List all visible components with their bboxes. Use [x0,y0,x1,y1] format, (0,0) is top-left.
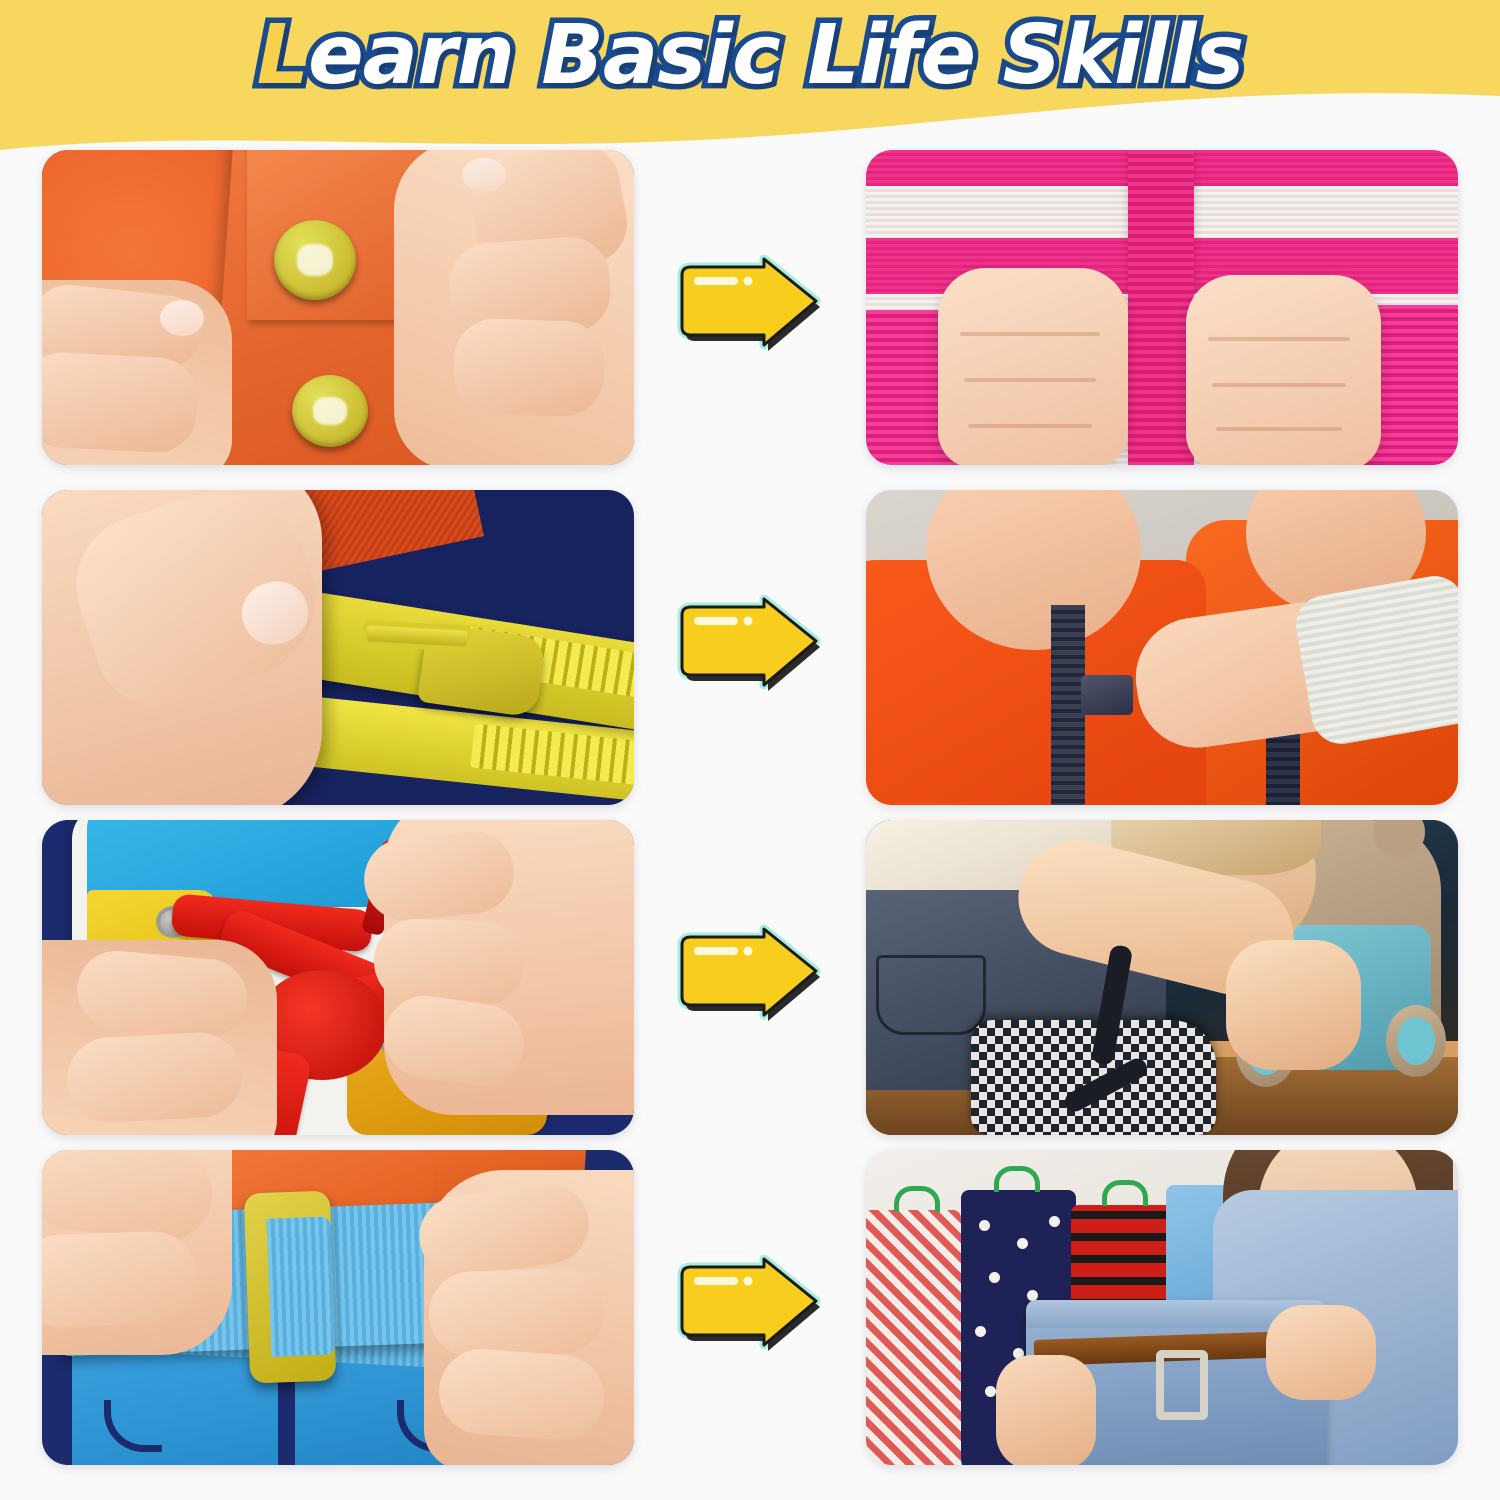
arrow-buckling [672,1255,822,1359]
vest-zipper-slider [1081,675,1133,715]
title-rest: earn Basic Life Skills [308,8,1243,103]
belt-buckle [1156,1350,1208,1420]
child-fist-right [1186,275,1381,465]
child-hand-right [424,1170,634,1465]
child-hand-left [42,1150,232,1355]
skill-row-shoe-lacing [0,820,1500,1135]
scene-busy-board-button [42,150,634,465]
page-title: Learn Basic Life Skills [0,10,1500,102]
jeans-pocket [876,955,986,1035]
panel-after-buttoning[interactable] [866,150,1458,465]
child-hand [1226,940,1361,1070]
skills-grid [0,150,1500,1490]
scene-busy-board-lacing [42,820,634,1135]
finger-5 [42,350,199,454]
right-arrow-icon [672,1255,822,1359]
arrow-zipping [672,595,822,699]
fingernail [462,158,506,192]
right-arrow-icon [672,925,822,1029]
panel-before-buttoning[interactable] [42,150,634,465]
infographic-page: Learn Basic Life Skills [0,0,1500,1500]
sneaker [971,1020,1216,1135]
panel-after-lacing[interactable] [866,820,1458,1135]
hanger-3 [1102,1180,1148,1206]
yellow-button-bottom [292,375,368,447]
girl-hand-right [1266,1305,1376,1400]
right-arrow-icon [672,255,822,359]
skill-row-buckling [0,1150,1500,1465]
panel-before-zipping[interactable] [42,490,634,805]
scene-real-shoe-tying [866,820,1458,1135]
yellow-button-top [274,220,356,300]
girl-hand-left [996,1355,1096,1465]
header-banner: Learn Basic Life Skills [0,0,1500,170]
arrow-buttoning [672,255,822,359]
child-hand-right [384,820,634,1115]
vest-zipper-strip [1051,605,1085,805]
title-lead-letter: L [257,8,308,103]
zipper-teeth-lower [470,724,634,790]
scene-busy-board-zipper [42,490,634,805]
scene-real-cardigan [866,150,1458,465]
teddy-paw-right [1386,1005,1446,1077]
right-arrow-icon [672,595,822,699]
skill-row-zipping [0,490,1500,805]
knit-sleeve [1291,571,1458,748]
arrow-lacing [672,925,822,1029]
panel-before-buckling[interactable] [42,1150,634,1465]
cardigan-placket [1128,150,1194,465]
panel-after-zipping[interactable] [866,490,1458,805]
hanger-1 [894,1186,940,1212]
panel-after-buckling[interactable] [866,1150,1458,1465]
panel-before-lacing[interactable] [42,820,634,1135]
pants-pocket-left [104,1400,162,1452]
yellow-buckle [244,1191,337,1384]
garment-gingham [866,1210,961,1465]
hanger-2 [994,1166,1040,1192]
child-hand-left [42,940,277,1135]
fingernail-2 [160,300,204,336]
skill-row-buttoning [0,150,1500,465]
scene-real-belt-jeans [866,1150,1458,1465]
finger-3 [452,317,605,417]
child-fist-left [938,268,1128,465]
scene-busy-board-buckle [42,1150,634,1465]
scene-real-life-vest [866,490,1458,805]
